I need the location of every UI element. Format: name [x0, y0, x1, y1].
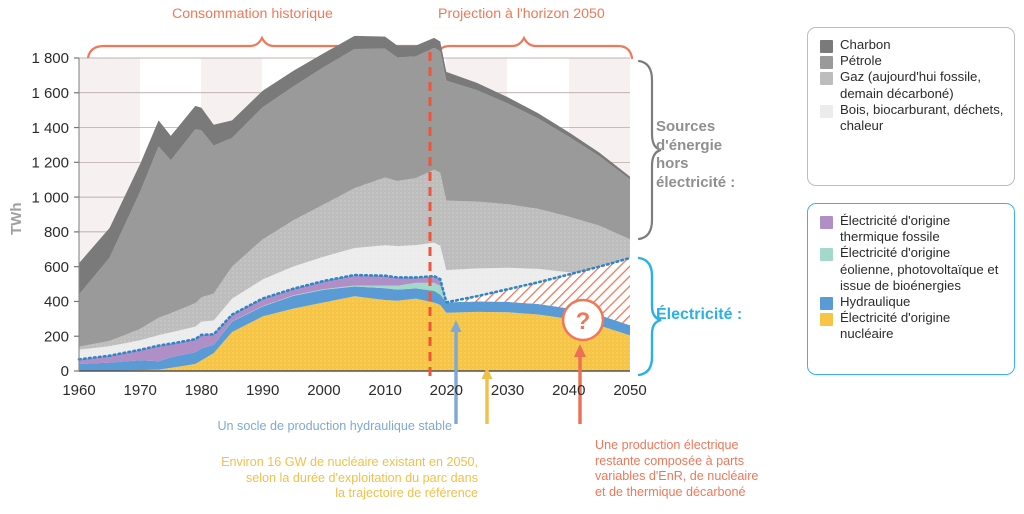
- legend-swatch-nucleaire: [820, 313, 833, 326]
- legend-label-thermique-fossile: Électricité d'origine thermique fossile: [840, 213, 1004, 245]
- callout-nuclear-line-2: la trajectoire de référence: [145, 486, 478, 502]
- callout-enr-line-0: Une production électrique: [595, 438, 810, 454]
- y-tick-label: 400: [44, 294, 69, 311]
- energy-stacked-area-chart: ? 1 8001 6001 4001 2001 0008006004002000…: [0, 24, 700, 424]
- legend-label-gaz: Gaz (aujourd'hui fossile, demain décarbo…: [840, 69, 1004, 101]
- callout-nuclear: Environ 16 GW de nucléaire existant en 2…: [145, 455, 478, 502]
- y-tick-label: 0: [61, 363, 69, 380]
- y-tick-label: 200: [44, 328, 69, 345]
- legend-swatch-hydraulique: [820, 297, 833, 310]
- legend-swatch-charbon: [820, 40, 833, 53]
- legend-swatch-bois: [820, 105, 833, 118]
- section-label-fossil-line-3: électricité :: [656, 174, 735, 193]
- legend-swatch-enr: [820, 248, 833, 261]
- legend-label-bois: Bois, biocarburant, déchets, chaleur: [840, 102, 1004, 134]
- x-tick-label: 1960: [62, 382, 95, 399]
- infographic-root: Consommation historique Projection à l'h…: [0, 0, 1024, 514]
- question-mark-label: ?: [576, 308, 591, 335]
- legend-item-nucleaire[interactable]: Électricité d'origine nucléaire: [820, 310, 1004, 342]
- legend-label-hydraulique: Hydraulique: [840, 294, 910, 310]
- callout-enr-line-2: variables d'EnR, de nucléaire: [595, 469, 810, 485]
- section-label-electricity: Électricité :: [656, 306, 742, 324]
- caption-historical: Consommation historique: [172, 6, 333, 22]
- legend-label-charbon: Charbon: [840, 37, 891, 53]
- x-tick-label: 2050: [613, 382, 646, 399]
- y-tick-label: 800: [44, 224, 69, 241]
- y-tick-label: 1 000: [31, 189, 69, 206]
- x-tick-label: 1970: [124, 382, 157, 399]
- y-tick-label: 600: [44, 259, 69, 276]
- legend-item-petrole[interactable]: Pétrole: [820, 53, 1004, 69]
- callout-enr-line-1: restante composée à parts: [595, 454, 810, 470]
- callout-enr: Une production électrique restante compo…: [595, 438, 810, 500]
- legend-label-nucleaire: Électricité d'origine nucléaire: [840, 310, 1004, 342]
- legend-item-gaz[interactable]: Gaz (aujourd'hui fossile, demain décarbo…: [820, 69, 1004, 101]
- x-tick-label: 2010: [368, 382, 401, 399]
- caption-projection: Projection à l'horizon 2050: [438, 6, 605, 22]
- legend-label-enr: Électricité d'origine éolienne, photovol…: [840, 245, 1004, 294]
- legend-item-charbon[interactable]: Charbon: [820, 37, 1004, 53]
- x-tick-label: 2020: [430, 382, 463, 399]
- legend-item-thermique-fossile[interactable]: Électricité d'origine thermique fossile: [820, 213, 1004, 245]
- x-tick-label: 1990: [246, 382, 279, 399]
- x-tick-label: 2030: [491, 382, 524, 399]
- section-label-fossil-line-1: d'énergie: [656, 137, 735, 156]
- y-tick-label: 1 400: [31, 120, 69, 137]
- legend-item-hydraulique[interactable]: Hydraulique: [820, 294, 1004, 310]
- legend-electricity-sources: Électricité d'origine thermique fossile …: [807, 203, 1015, 375]
- y-tick-marks: [74, 58, 79, 371]
- section-label-fossil-line-2: hors: [656, 155, 735, 174]
- legend-item-enr[interactable]: Électricité d'origine éolienne, photovol…: [820, 245, 1004, 294]
- y-tick-label: 1 800: [31, 50, 69, 67]
- x-tick-label: 1980: [185, 382, 218, 399]
- legend-label-petrole: Pétrole: [840, 53, 882, 69]
- y-tick-label: 1 600: [31, 85, 69, 102]
- x-tick-label: 2000: [307, 382, 340, 399]
- section-label-fossil-line-0: Sources: [656, 118, 735, 137]
- y-axis-title: TWh: [8, 203, 25, 235]
- x-tick-label: 2040: [552, 382, 585, 399]
- callout-enr-line-3: et de thermique décarboné: [595, 485, 810, 501]
- callout-nuclear-line-0: Environ 16 GW de nucléaire existant en 2…: [145, 455, 478, 471]
- y-tick-labels: 1 8001 6001 4001 2001 0008006004002000: [31, 50, 69, 380]
- y-tick-label: 1 200: [31, 155, 69, 172]
- section-label-fossil: Sources d'énergie hors électricité :: [656, 118, 735, 192]
- legend-item-bois[interactable]: Bois, biocarburant, déchets, chaleur: [820, 102, 1004, 134]
- legend-fossil-sources: Charbon Pétrole Gaz (aujourd'hui fossile…: [807, 27, 1015, 186]
- legend-swatch-petrole: [820, 56, 833, 69]
- x-tick-labels: 1960197019801990200020102020203020402050: [62, 382, 646, 399]
- callout-nuclear-line-1: selon la durée d'exploitation du parc da…: [145, 471, 478, 487]
- bracket-projection: [436, 38, 632, 58]
- callout-hydro: Un socle de production hydraulique stabl…: [140, 419, 452, 435]
- uncertainty-question-marker[interactable]: ?: [563, 300, 603, 340]
- legend-swatch-gaz: [820, 72, 833, 85]
- legend-swatch-thermique-fossile: [820, 216, 833, 229]
